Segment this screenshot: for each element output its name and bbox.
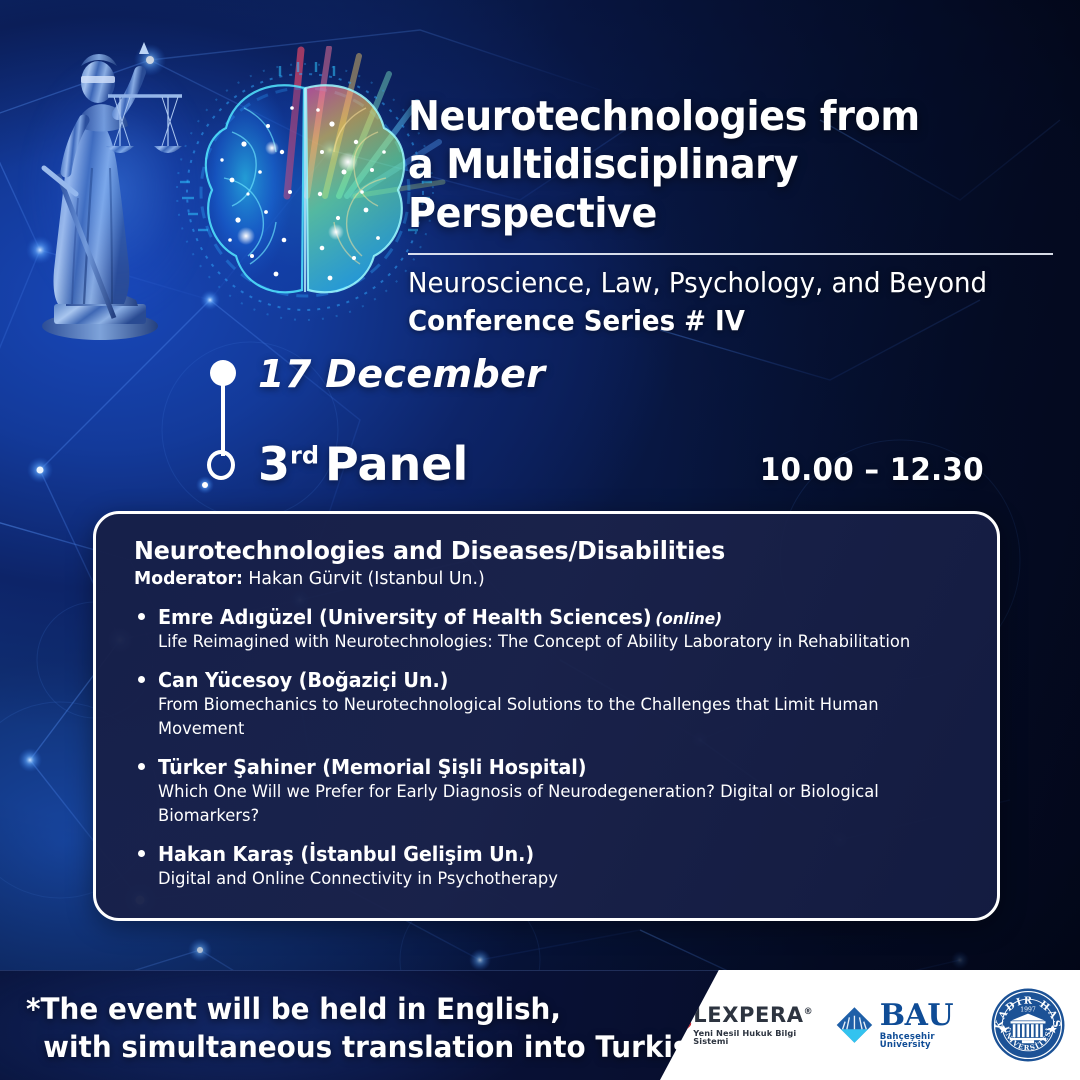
sponsor-logo-panel: LEXPERA® Yeni Nesil Hukuk Bilgi Sistemi (660, 970, 1080, 1080)
panel-number: 3 (258, 437, 290, 491)
panel-heading: 3rdPanel (258, 437, 468, 491)
khas-year-text: 1997 (1020, 1006, 1036, 1013)
title-block: Neurotechnologies from a Multidisciplina… (408, 92, 1053, 338)
bullet-icon (138, 613, 145, 620)
speaker-name-text: Hakan Karaş (İstanbul Gelişim Un.) (158, 842, 534, 866)
speaker-talk-title: Which One Will we Prefer for Early Diagn… (158, 781, 931, 828)
speaker-name-text: Emre Adıgüzel (University of Health Scie… (158, 605, 652, 629)
event-date: 17 December (258, 352, 545, 396)
registered-mark-icon: ® (804, 1007, 814, 1017)
panel-topic-title: Neurotechnologies and Diseases/Disabilit… (134, 536, 922, 565)
footer-note-line1: *The event will be held in English, (26, 992, 561, 1026)
moderator-name: Hakan Gürvit (Istanbul Un.) (248, 568, 484, 589)
bau-logo-text: BAU Bahçeşehir University (880, 1001, 972, 1050)
poster-title: Neurotechnologies from a Multidisciplina… (408, 92, 1008, 237)
title-divider-rule (408, 253, 1053, 255)
speaker-name: Türker Şahiner (Memorial Şişli Hospital) (158, 755, 931, 780)
lexpera-tagline: Yeni Nesil Hukuk Bilgi Sistemi (693, 1029, 817, 1045)
panel-content-box: Neurotechnologies and Diseases/Disabilit… (93, 511, 1000, 921)
list-item: Türker Şahiner (Memorial Şişli Hospital)… (134, 755, 963, 828)
speaker-talk-title: From Biomechanics to Neurotechnological … (158, 694, 931, 741)
speaker-mode-tag: (online) (655, 609, 722, 628)
panel-moderator: Moderator: Hakan Gürvit (Istanbul Un.) (134, 568, 930, 589)
timeline-marker (205, 360, 241, 482)
lexpera-name: LEXPERA (693, 1003, 803, 1027)
brain-icon (172, 52, 442, 332)
moderator-label: Moderator: (134, 568, 243, 589)
speaker-talk-title: Life Reimagined with Neurotechnologies: … (158, 631, 931, 654)
event-time: 10.00 – 12.30 (760, 452, 984, 488)
lexpera-logo-text: LEXPERA® Yeni Nesil Hukuk Bilgi Sistemi (693, 1005, 817, 1045)
bullet-icon (138, 676, 145, 683)
bullet-icon (138, 850, 145, 857)
timeline-dot-hollow-icon (207, 450, 235, 480)
footer-bar: *The event will be held in English, with… (0, 970, 1080, 1080)
lexpera-wordmark: LEXPERA® (693, 1005, 817, 1026)
speaker-name: Can Yücesoy (Boğaziçi Un.) (158, 668, 931, 693)
panel-ordinal-suffix: rd (290, 442, 319, 470)
poster-title-line1: Neurotechnologies from (408, 92, 1008, 140)
kadir-has-seal-icon: KADIR HAS ÜNİVERSİTESİ 1997 (990, 987, 1066, 1063)
footer-note-line2: with simultaneous translation into Turki… (26, 1028, 720, 1066)
conference-poster: Neurotechnologies from a Multidisciplina… (0, 0, 1080, 1080)
speaker-name-text: Can Yücesoy (Boğaziçi Un.) (158, 668, 448, 692)
speaker-list: Emre Adıgüzel (University of Health Scie… (134, 605, 963, 892)
footer-language-note: *The event will be held in English, with… (26, 990, 720, 1067)
bau-wordmark: BAU (880, 1001, 972, 1031)
speaker-name: Emre Adıgüzel (University of Health Scie… (158, 605, 931, 630)
list-item: Emre Adıgüzel (University of Health Scie… (134, 605, 963, 654)
bau-logo: BAU Bahçeşehir University (835, 1001, 972, 1050)
timeline-stem (221, 384, 225, 456)
bau-tagline: Bahçeşehir University (880, 1033, 972, 1050)
list-item: Hakan Karaş (İstanbul Gelişim Un.) Digit… (134, 842, 963, 891)
conference-series-label: Conference Series # IV (408, 303, 1008, 338)
digital-brain-image (172, 52, 442, 332)
list-item: Can Yücesoy (Boğaziçi Un.) From Biomecha… (134, 668, 963, 741)
speaker-name-text: Türker Şahiner (Memorial Şişli Hospital) (158, 755, 586, 779)
kadir-has-university-logo: KADIR HAS ÜNİVERSİTESİ 1997 (990, 987, 1066, 1063)
bullet-icon (138, 763, 145, 770)
poster-title-line2: a Multidisciplinary Perspective (408, 140, 1008, 237)
speaker-talk-title: Digital and Online Connectivity in Psych… (158, 868, 931, 891)
bau-diamond-icon (835, 1002, 874, 1048)
timeline-dot-filled-icon (210, 360, 236, 386)
speaker-name: Hakan Karaş (İstanbul Gelişim Un.) (158, 842, 931, 867)
poster-subtitle: Neuroscience, Law, Psychology, and Beyon… (408, 266, 1008, 300)
panel-word: Panel (325, 437, 468, 491)
